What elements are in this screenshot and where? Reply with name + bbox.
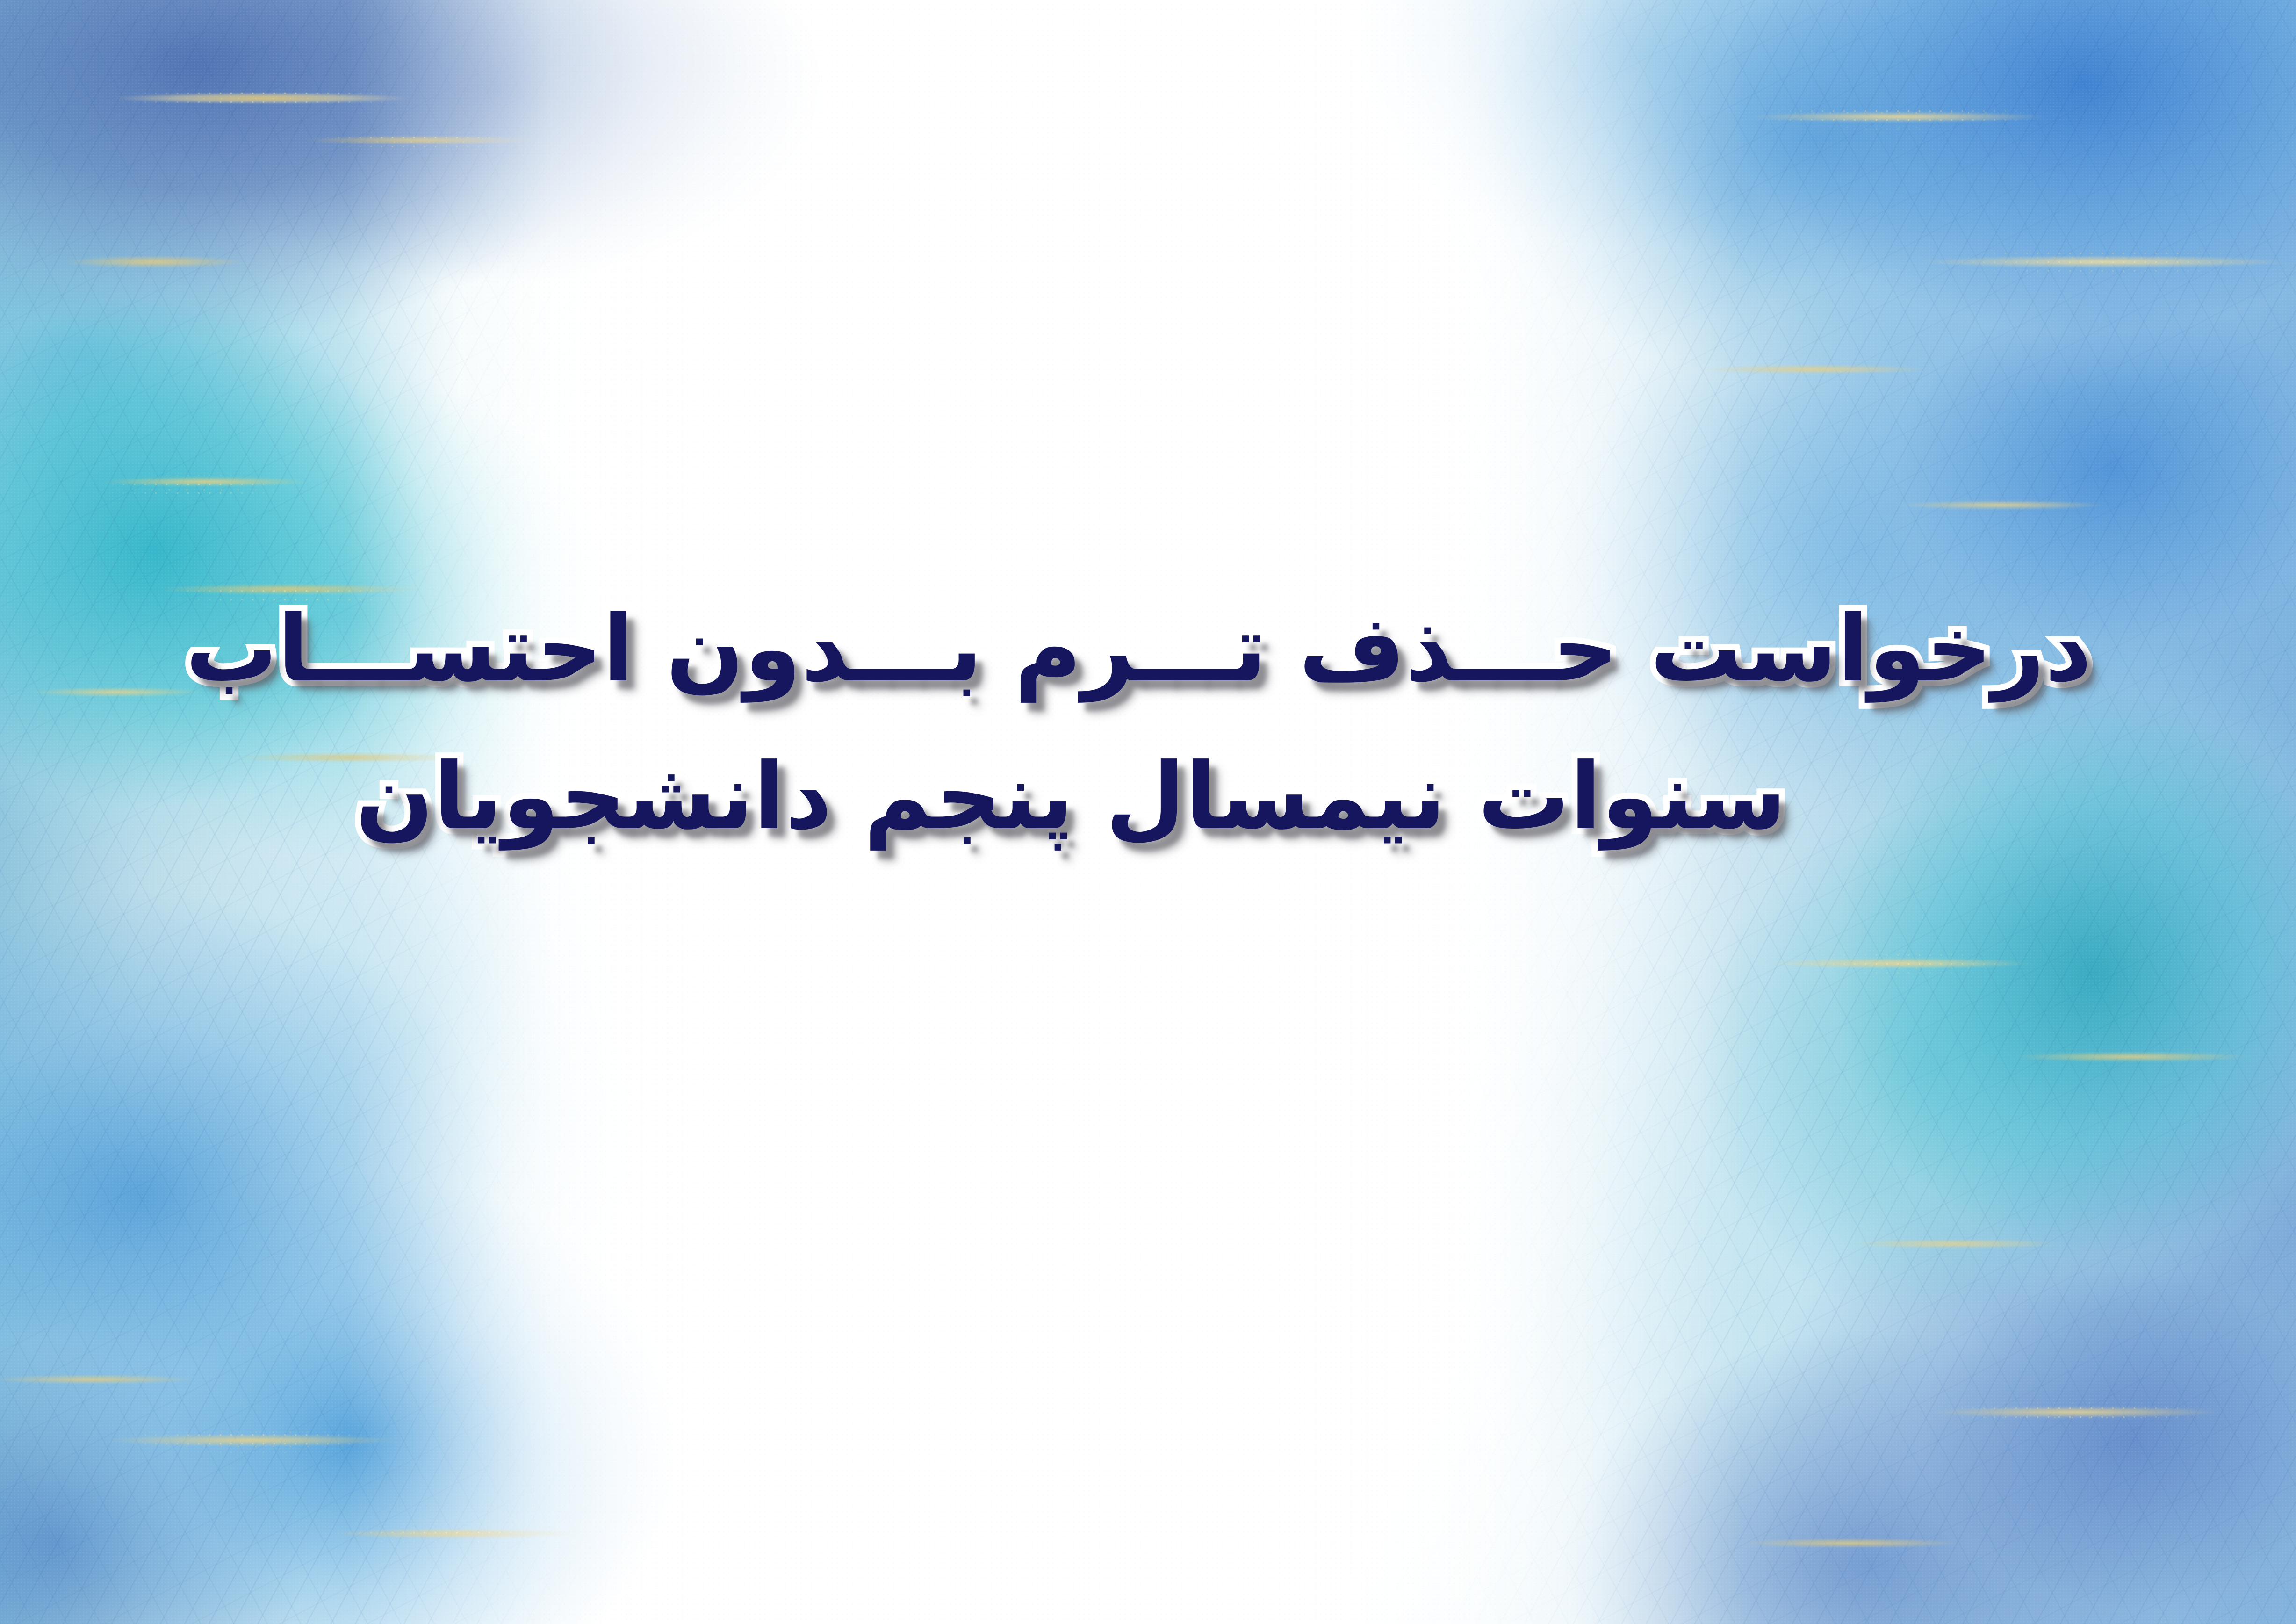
headline-line-2: سنوات نیمسال پنجم دانشجویان: [0, 751, 2296, 843]
announcement-slide: درخواست حـــذف تـــرم بـــدون احتســـاب …: [0, 0, 2296, 1624]
headline-block: درخواست حـــذف تـــرم بـــدون احتســـاب …: [0, 603, 2296, 843]
headline-line-1: درخواست حـــذف تـــرم بـــدون احتســـاب: [0, 603, 2296, 695]
